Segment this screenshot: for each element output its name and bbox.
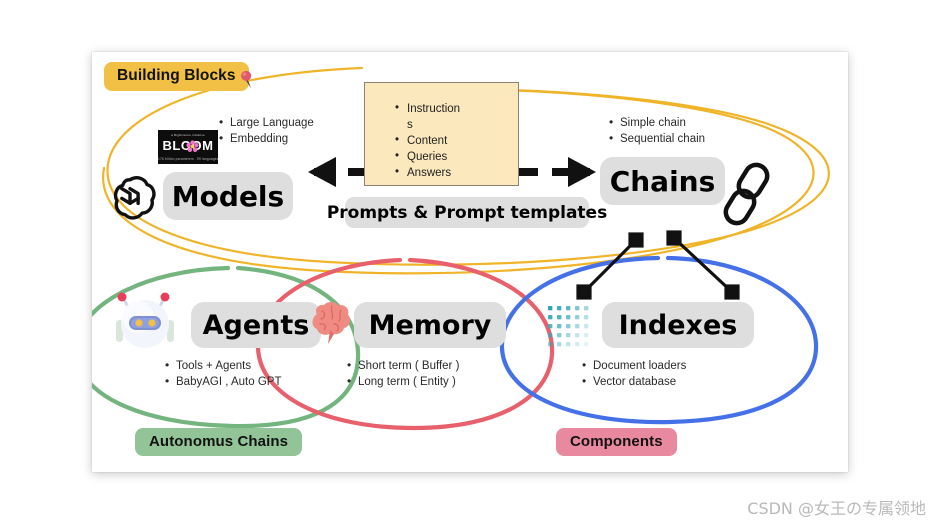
node-label-prompts[interactable]: Prompts & Prompt templates <box>345 197 589 228</box>
list-item: BabyAGI , Auto GPT <box>176 375 281 391</box>
list-item: Tools + Agents <box>176 359 281 375</box>
prompts-sticky-note: Instructions Content Queries Answers <box>364 82 519 186</box>
models-bullet-list: Large Language Embedding <box>216 116 314 147</box>
dot-grid-icon <box>547 305 595 349</box>
brain-icon <box>308 300 354 346</box>
list-item: Embedding <box>230 132 314 148</box>
chain-link-icon <box>720 162 776 232</box>
list-item: Answers <box>395 165 465 181</box>
agents-bullet-list: Tools + Agents BabyAGI , Auto GPT <box>162 359 281 390</box>
diagram-canvas: Building Blocks Autonomus Chains Compone… <box>92 52 848 472</box>
push-pin-icon <box>237 70 257 90</box>
list-item: Content <box>395 133 465 149</box>
list-item: Simple chain <box>620 116 705 132</box>
slide-stage: Building Blocks Autonomus Chains Compone… <box>0 0 940 529</box>
node-label-memory[interactable]: Memory <box>354 302 506 348</box>
list-item: Vector database <box>593 375 686 391</box>
memory-bullet-list: Short term ( Buffer ) Long term ( Entity… <box>344 359 459 390</box>
bloom-flower-icon <box>186 140 199 153</box>
robot-icon <box>114 290 176 352</box>
badge-building-blocks: Building Blocks <box>104 62 249 91</box>
arrow-head-right <box>568 157 596 187</box>
list-item: Short term ( Buffer ) <box>358 359 459 375</box>
bloom-logo-top-text: a BigScience initiative <box>158 133 218 137</box>
openai-logo-icon <box>104 170 156 222</box>
badge-components: Components <box>556 428 677 456</box>
list-item: Large Language <box>230 116 314 132</box>
node-label-indexes[interactable]: Indexes <box>602 302 754 348</box>
arrow-head-left <box>308 157 336 187</box>
node-label-models[interactable]: Models <box>163 172 293 220</box>
chains-to-memory-connector <box>578 234 642 298</box>
list-item: Document loaders <box>593 359 686 375</box>
bloom-logo-bottom-text: 176 billion parameters . 59 languages . … <box>158 157 218 161</box>
csdn-watermark: CSDN @女王の专属领地 <box>747 495 926 519</box>
list-item: Instructions <box>395 101 465 133</box>
bloom-logo: a BigScience initiative BLOOM 176 billio… <box>158 130 218 164</box>
indexes-bullet-list: Document loaders Vector database <box>579 359 686 390</box>
sticky-note-list: Instructions Content Queries Answers <box>395 101 465 181</box>
badge-autonomus-chains: Autonomus Chains <box>135 428 302 456</box>
list-item: Sequential chain <box>620 132 705 148</box>
chains-bullet-list: Simple chain Sequential chain <box>606 116 705 147</box>
node-label-agents[interactable]: Agents <box>191 302 321 348</box>
node-label-chains[interactable]: Chains <box>600 157 725 205</box>
chains-to-indexes-connector <box>668 232 738 298</box>
list-item: Long term ( Entity ) <box>358 375 459 391</box>
list-item: Queries <box>395 149 465 165</box>
